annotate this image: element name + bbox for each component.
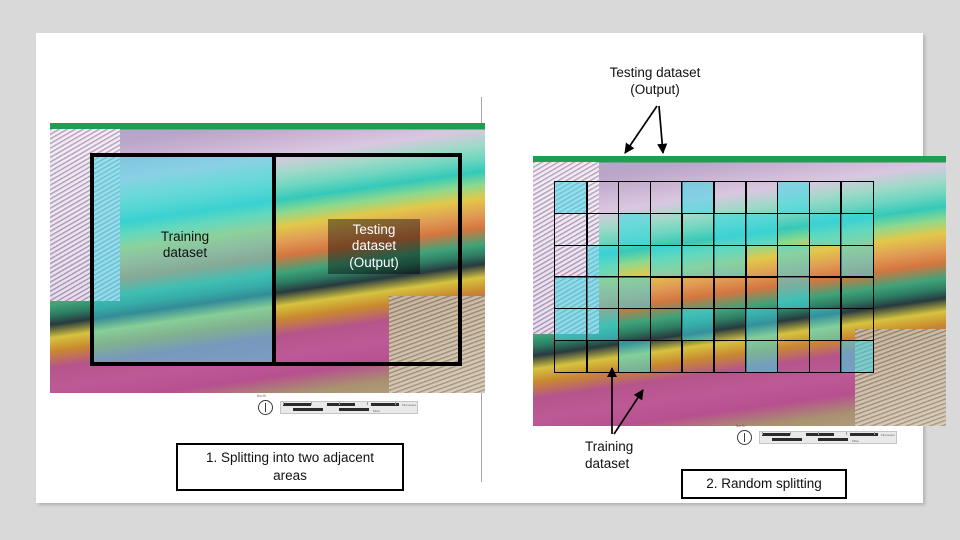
grid-cell-testing[interactable] (809, 181, 842, 214)
grid-cell-training[interactable] (840, 340, 873, 373)
testing-dataset-annotation: Testing dataset (Output) (575, 65, 735, 99)
grid-cell-training[interactable] (713, 245, 746, 278)
scale-segment (339, 408, 369, 411)
scale-segment (818, 438, 848, 441)
grid-cell-testing[interactable] (745, 181, 778, 214)
north-arrow-icon: North (737, 430, 752, 445)
grid-cell-training[interactable] (586, 276, 619, 309)
scale-tick (367, 402, 368, 405)
grid-cell-training[interactable] (554, 181, 587, 214)
scale-bar: Kilometers Miles (280, 401, 418, 414)
grid-cell-testing[interactable] (809, 340, 842, 373)
grid-cell-testing[interactable] (809, 245, 842, 278)
scale-segment (772, 438, 802, 441)
grid-cell-testing[interactable] (650, 181, 683, 214)
grid-cell-testing[interactable] (745, 245, 778, 278)
grid-cell-testing[interactable] (681, 340, 714, 373)
grid-cell-training[interactable] (745, 213, 778, 246)
scale-tick (311, 402, 312, 405)
scale-segment (762, 433, 790, 436)
slide-canvas: Training dataset Testing dataset (Output… (36, 33, 923, 503)
grid-cell-testing[interactable] (713, 181, 746, 214)
scale-tick (395, 402, 396, 405)
north-needle-icon (744, 433, 745, 442)
scale-segment (283, 403, 311, 406)
grid-cell-training[interactable] (618, 340, 651, 373)
grid-cell-testing[interactable] (777, 340, 810, 373)
scale-units-bottom: Miles (852, 439, 859, 443)
scale-tick (339, 402, 340, 405)
grid-cell-testing[interactable] (554, 213, 587, 246)
north-arrow-label: North (257, 394, 266, 398)
testing-area-label: Testing dataset (Output) (328, 219, 420, 274)
grid-cell-training[interactable] (681, 245, 714, 278)
grid-cell-testing[interactable] (586, 213, 619, 246)
grid-cell-training[interactable] (809, 213, 842, 246)
training-area-label: Training dataset (140, 229, 230, 262)
grid-cell-testing[interactable] (554, 340, 587, 373)
grid-cell-training[interactable] (618, 213, 651, 246)
right-panel: Testing dataset (Output) Training (497, 58, 917, 478)
grid-cell-training[interactable] (840, 213, 873, 246)
grid-cell-testing[interactable] (840, 308, 873, 341)
grid-cell-testing[interactable] (650, 213, 683, 246)
left-map-furniture: North Kilometers Miles (258, 398, 418, 416)
grid-cell-testing[interactable] (650, 340, 683, 373)
scale-units-top: Kilometers (881, 433, 895, 437)
grid-cell-training[interactable] (809, 308, 842, 341)
grid-cell-testing[interactable] (681, 276, 714, 309)
grid-cell-training[interactable] (554, 308, 587, 341)
north-arrow-icon: North (258, 400, 273, 415)
grid-cell-testing[interactable] (554, 245, 587, 278)
grid-cell-testing[interactable] (809, 276, 842, 309)
right-caption-box: 2. Random splitting (681, 469, 847, 499)
scale-bar: Kilometers Miles (759, 431, 897, 444)
scale-units-top: Kilometers (402, 403, 416, 407)
north-needle-icon (265, 403, 266, 412)
grid-cell-training[interactable] (745, 340, 778, 373)
grid-cell-training[interactable] (777, 245, 810, 278)
scale-tick (818, 432, 819, 435)
grid-cell-testing[interactable] (777, 213, 810, 246)
grid-cell-training[interactable] (554, 276, 587, 309)
random-split-grid[interactable] (555, 182, 873, 372)
scale-tick (283, 402, 284, 405)
grid-cell-training[interactable] (840, 245, 873, 278)
grid-cell-training[interactable] (618, 276, 651, 309)
grid-cell-testing[interactable] (618, 181, 651, 214)
scale-tick (874, 432, 875, 435)
right-map (533, 156, 946, 426)
grid-cell-training[interactable] (777, 181, 810, 214)
grid-cell-testing[interactable] (777, 308, 810, 341)
grid-cell-testing[interactable] (713, 276, 746, 309)
grid-cell-training[interactable] (713, 213, 746, 246)
scale-units-bottom: Miles (373, 409, 380, 413)
grid-cell-testing[interactable] (713, 340, 746, 373)
scale-segment (327, 403, 355, 406)
scale-segment (806, 433, 834, 436)
training-dataset-annotation: Training dataset (585, 439, 695, 473)
grid-cell-testing[interactable] (840, 276, 873, 309)
grid-cell-training[interactable] (745, 308, 778, 341)
grid-cell-testing[interactable] (681, 213, 714, 246)
grid-cell-testing[interactable] (650, 308, 683, 341)
grid-cell-testing[interactable] (618, 308, 651, 341)
grid-cell-training[interactable] (681, 308, 714, 341)
grid-cell-training[interactable] (650, 245, 683, 278)
left-map: Training dataset Testing dataset (Output… (50, 123, 485, 393)
grid-cell-testing[interactable] (586, 340, 619, 373)
scale-tick (846, 432, 847, 435)
right-map-furniture: North Kilometers Miles (737, 428, 897, 446)
grid-cell-testing[interactable] (713, 308, 746, 341)
grid-cell-testing[interactable] (745, 276, 778, 309)
scale-segment (293, 408, 323, 411)
grid-cell-training[interactable] (777, 276, 810, 309)
left-caption-box: 1. Splitting into two adjacent areas (176, 443, 404, 491)
left-panel: Training dataset Testing dataset (Output… (50, 123, 485, 463)
grid-cell-training[interactable] (586, 308, 619, 341)
grid-cell-testing[interactable] (650, 276, 683, 309)
grid-cell-training[interactable] (586, 245, 619, 278)
grid-cell-testing[interactable] (586, 181, 619, 214)
grid-cell-testing[interactable] (840, 181, 873, 214)
north-arrow-label: North (736, 424, 745, 428)
grid-cell-training[interactable] (681, 181, 714, 214)
scale-tick (762, 432, 763, 435)
grid-cell-testing[interactable] (618, 245, 651, 278)
scale-tick (790, 432, 791, 435)
